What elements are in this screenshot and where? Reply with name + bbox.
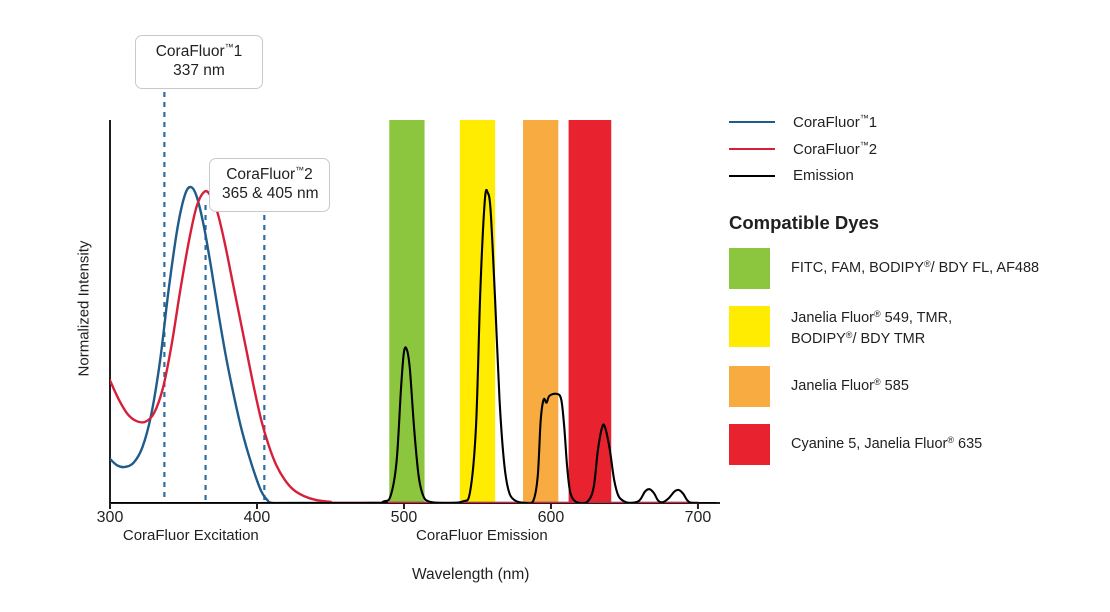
legend-dye-label-0: FITC, FAM, BODIPY®/ BDY FL, AF488	[791, 248, 1039, 279]
registered-icon: ®	[846, 330, 853, 340]
legend-series-row-1[interactable]: CoraFluor™2	[729, 135, 1089, 162]
callout-corafluor1: CoraFluor™1 337 nm	[135, 35, 263, 89]
legend-series-row-0[interactable]: CoraFluor™1	[729, 108, 1089, 135]
orange-band	[523, 120, 558, 503]
x-tick-label-500: 500	[391, 509, 418, 527]
trademark-icon: ™	[295, 165, 304, 175]
legend-line-swatch-1	[729, 148, 775, 150]
legend-series-label-0: CoraFluor™1	[793, 113, 877, 131]
fluorescence-spectra-figure: CoraFluor™1 337 nm CoraFluor™2 365 & 405…	[0, 0, 1110, 612]
callout-corafluor2-line1: CoraFluor™2	[222, 165, 317, 185]
legend-dye-label-3: Cyanine 5, Janelia Fluor® 635	[791, 424, 982, 455]
legend-dye-row-0[interactable]: FITC, FAM, BODIPY®/ BDY FL, AF488	[729, 248, 1089, 289]
legend-dye-swatch-3	[729, 424, 770, 465]
registered-icon: ®	[924, 259, 931, 269]
legend: CoraFluor™1CoraFluor™2Emission Compatibl…	[729, 108, 1089, 482]
x-axis-title: Wavelength (nm)	[412, 566, 529, 584]
legend-dye-swatch-0	[729, 248, 770, 289]
legend-dye-label-2: Janelia Fluor® 585	[791, 366, 909, 397]
red-band	[569, 120, 612, 503]
registered-icon: ®	[947, 435, 954, 445]
y-axis-title: Normalized Intensity	[76, 219, 93, 399]
legend-line-swatch-0	[729, 121, 775, 123]
x-tick-label-600: 600	[538, 509, 565, 527]
legend-dye-swatch-1	[729, 306, 770, 347]
series-legend: CoraFluor™1CoraFluor™2Emission	[729, 108, 1089, 189]
yellow-band	[460, 120, 495, 503]
x-tick-label-300: 300	[97, 509, 124, 527]
region-label-excitation: CoraFluor Excitation	[123, 527, 259, 544]
legend-series-label-1: CoraFluor™2	[793, 140, 877, 158]
callout-corafluor2-line2: 365 & 405 nm	[222, 185, 317, 204]
registered-icon: ®	[874, 377, 881, 387]
trademark-icon: ™	[860, 140, 869, 150]
compatible-dyes-heading: Compatible Dyes	[729, 212, 1089, 234]
legend-series-row-2[interactable]: Emission	[729, 162, 1089, 189]
legend-dye-swatch-2	[729, 366, 770, 407]
legend-series-label-2: Emission	[793, 167, 854, 184]
legend-line-swatch-2	[729, 175, 775, 177]
trademark-icon: ™	[225, 42, 234, 52]
legend-dye-row-3[interactable]: Cyanine 5, Janelia Fluor® 635	[729, 424, 1089, 465]
callout-corafluor1-line2: 337 nm	[148, 62, 250, 81]
registered-icon: ®	[874, 309, 881, 319]
trademark-icon: ™	[860, 113, 869, 123]
region-label-emission: CoraFluor Emission	[416, 527, 548, 544]
legend-dye-row-2[interactable]: Janelia Fluor® 585	[729, 366, 1089, 407]
x-tick-label-400: 400	[244, 509, 271, 527]
legend-dye-row-1[interactable]: Janelia Fluor® 549, TMR, BODIPY®/ BDY TM…	[729, 306, 1089, 349]
green-band	[389, 120, 424, 503]
callout-corafluor1-line1: CoraFluor™1	[148, 42, 250, 62]
compatible-dyes-legend: FITC, FAM, BODIPY®/ BDY FL, AF488Janelia…	[729, 248, 1089, 465]
x-tick-label-700: 700	[685, 509, 712, 527]
callout-corafluor2: CoraFluor™2 365 & 405 nm	[209, 158, 330, 212]
legend-dye-label-1: Janelia Fluor® 549, TMR, BODIPY®/ BDY TM…	[791, 306, 952, 349]
